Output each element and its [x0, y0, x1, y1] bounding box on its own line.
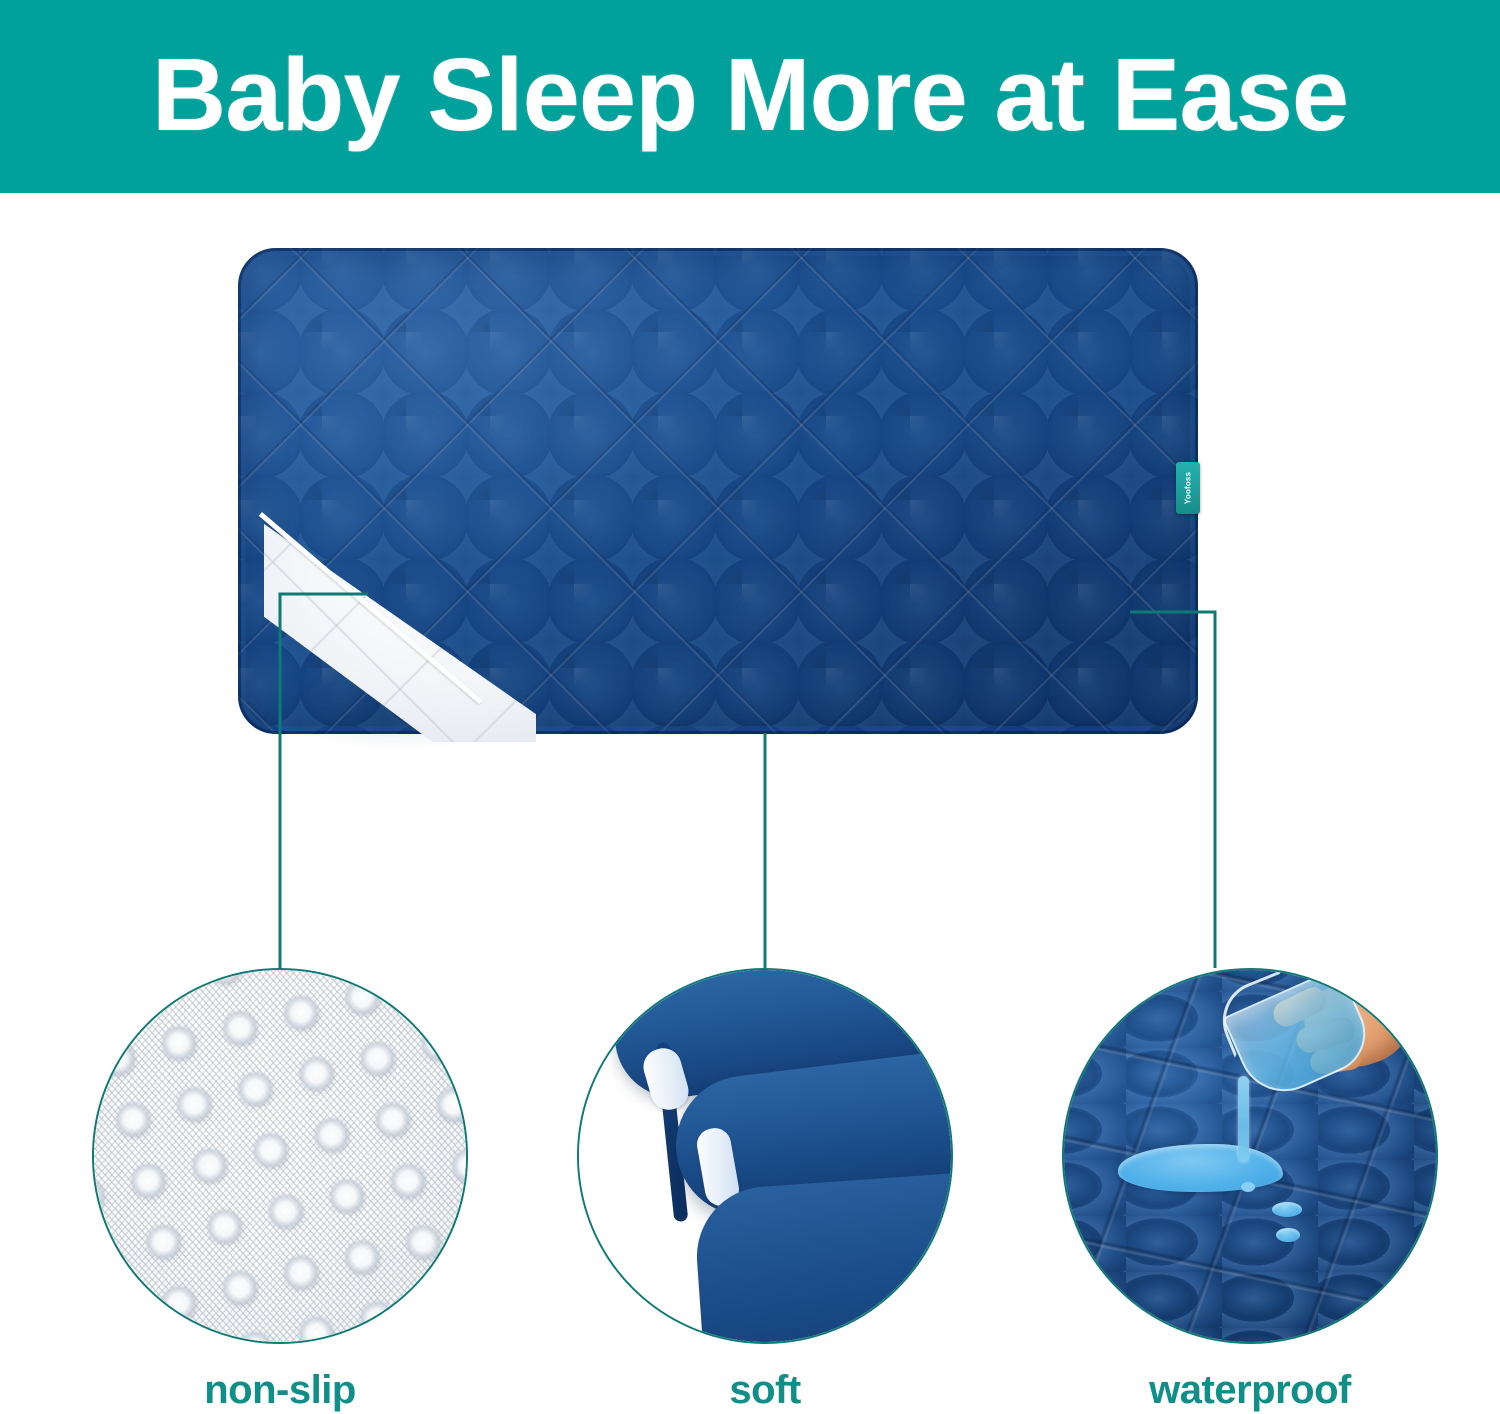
brand-tag: Yoofoss [1176, 462, 1200, 514]
feature-non-slip: non-slip [92, 968, 468, 1413]
feature-image-waterproof [1062, 968, 1438, 1344]
feature-label-non-slip: non-slip [92, 1368, 468, 1413]
folded-corner-underside [264, 510, 536, 742]
feature-waterproof: waterproof [1062, 968, 1438, 1413]
silicone-dots [92, 968, 468, 1344]
water-droplet [1241, 1182, 1255, 1192]
feature-image-non-slip [92, 968, 468, 1344]
feature-soft: soft [577, 968, 953, 1413]
header-banner: Baby Sleep More at Ease [0, 0, 1500, 193]
water-stream [1238, 1076, 1249, 1162]
water-droplet [1276, 1228, 1300, 1242]
non-slip-fabric-art [92, 968, 468, 1344]
feature-label-waterproof: waterproof [1062, 1368, 1438, 1413]
fold-hem-binding [98, 512, 483, 893]
feature-image-soft [577, 968, 953, 1344]
water-puddle [1118, 1144, 1283, 1192]
brand-tag-label: Yoofoss [1184, 472, 1193, 504]
page-title: Baby Sleep More at Ease [152, 43, 1348, 146]
feature-label-soft: soft [577, 1368, 953, 1413]
product-infographic: Baby Sleep More at Ease Yoofoss [0, 0, 1500, 1414]
soft-fabric-art [579, 970, 951, 1342]
water-droplet [1272, 1202, 1302, 1217]
product-image: Yoofoss [238, 248, 1198, 734]
waterproof-fabric-art [1062, 968, 1438, 1344]
